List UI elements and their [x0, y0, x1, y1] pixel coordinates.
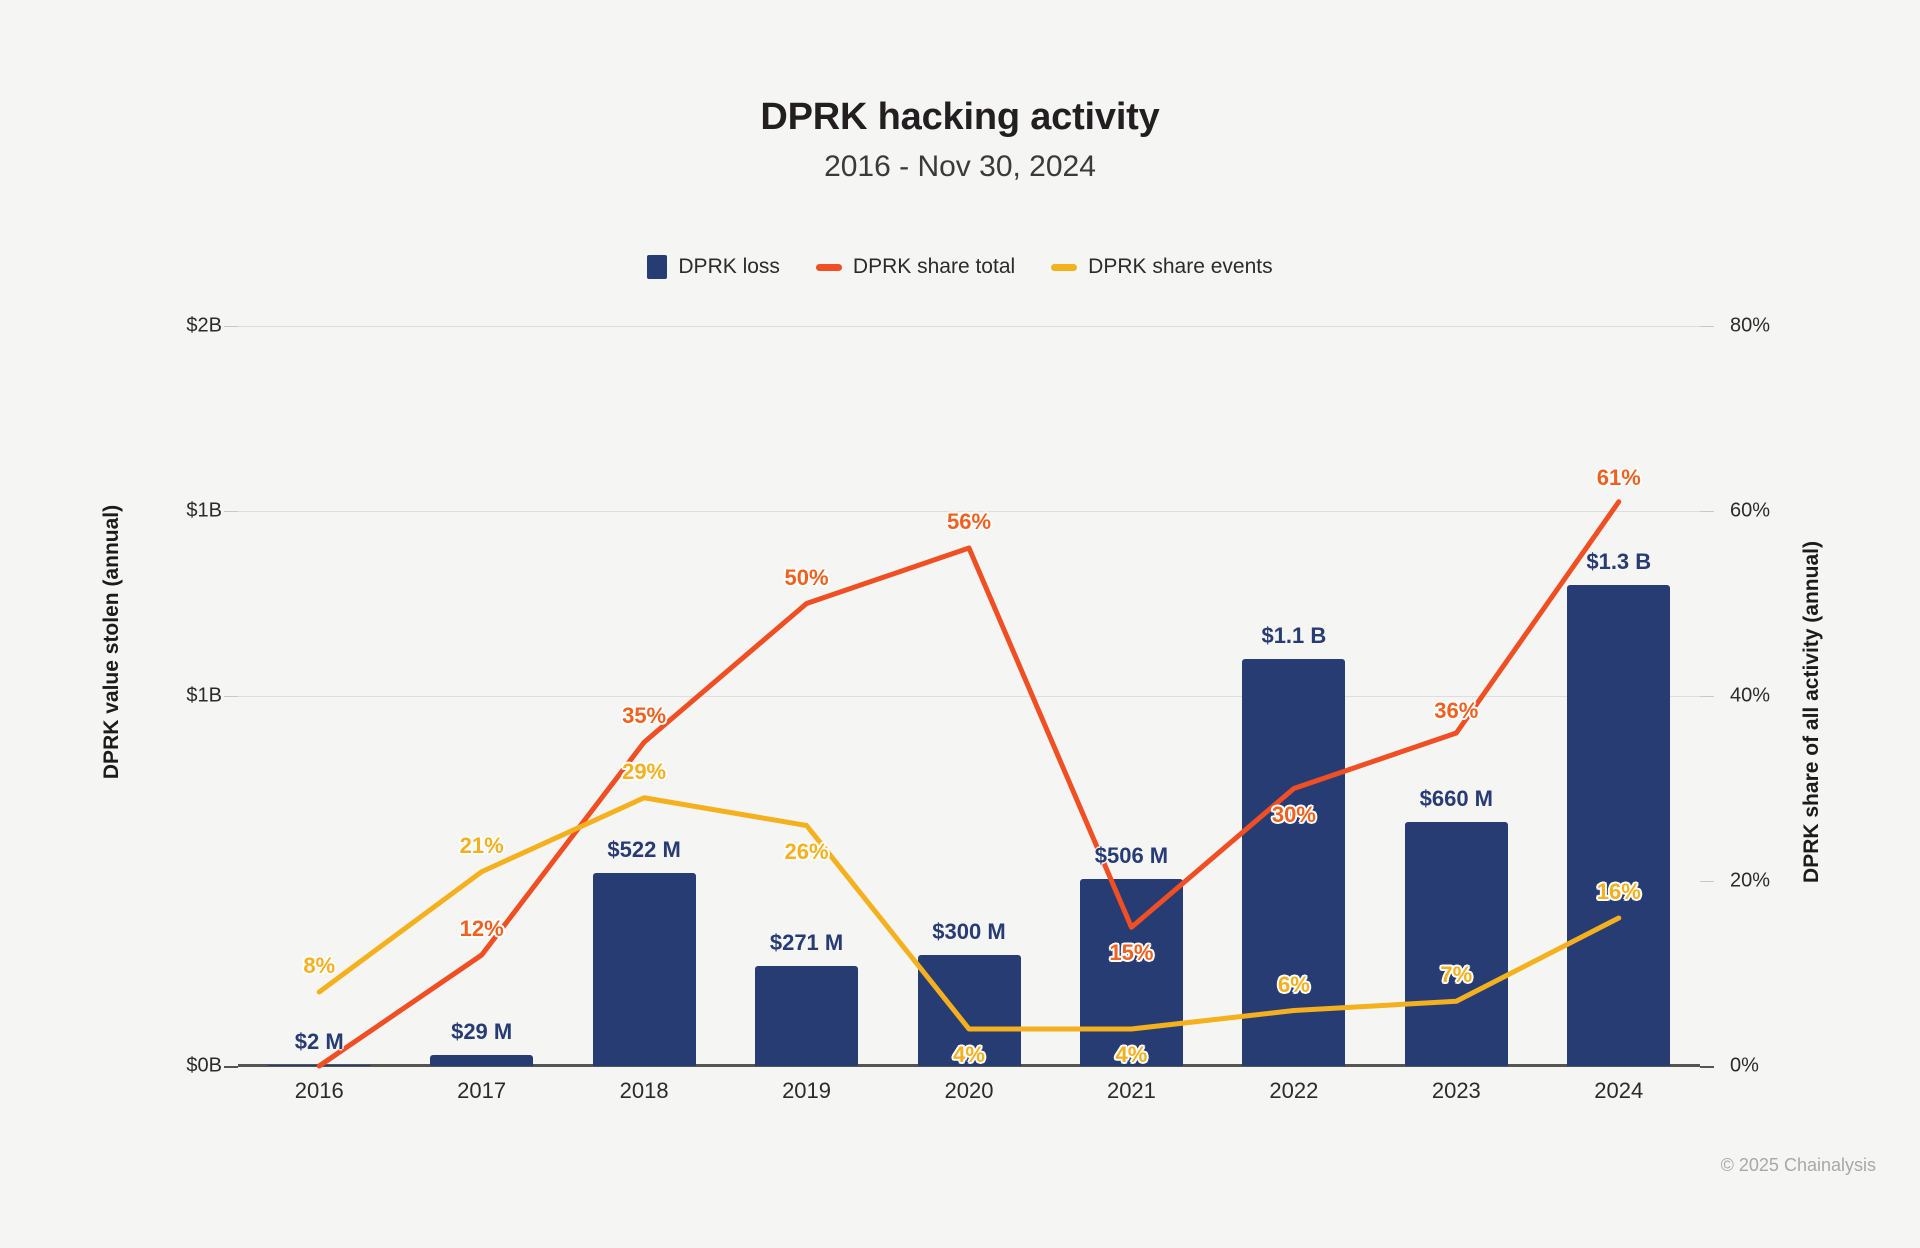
- left-axis-tickmark: [224, 326, 238, 327]
- point-label-dprk-share-events-2018: 29%: [622, 759, 666, 785]
- gridline: [238, 326, 1700, 327]
- left-axis-tickmark: [224, 696, 238, 697]
- legend-item-dprk-share-events[interactable]: DPRK share events: [1051, 255, 1272, 279]
- right-axis-tickmark: [1700, 696, 1714, 697]
- right-axis-tick-label: 80%: [1730, 315, 1850, 338]
- legend-line-swatch-icon: [816, 264, 842, 271]
- point-label-dprk-share-events-2021: 4%: [1116, 1042, 1148, 1068]
- left-axis-tick-label: $1B: [102, 500, 222, 523]
- bar-2022[interactable]: [1242, 659, 1345, 1066]
- bar-value-label-2019: $271 M: [770, 930, 843, 956]
- right-axis-tick-label: 0%: [1730, 1055, 1850, 1078]
- page-title: DPRK hacking activity: [0, 96, 1920, 139]
- point-label-dprk-share-events-2023: 7%: [1440, 962, 1472, 988]
- plot-area: $2B$1B$1B$0B80%60%40%20%0%: [238, 326, 1700, 1066]
- point-label-dprk-share-total-2022: 30%: [1272, 802, 1316, 828]
- legend-line-swatch-icon: [1051, 264, 1077, 271]
- bar-value-label-2022: $1.1 B: [1261, 623, 1326, 649]
- point-label-dprk-share-total-2018: 35%: [622, 703, 666, 729]
- legend-label: DPRK share total: [853, 255, 1015, 279]
- x-axis-tick-2022: 2022: [1269, 1078, 1318, 1104]
- bar-value-label-2017: $29 M: [451, 1019, 512, 1045]
- point-label-dprk-share-events-2024: 16%: [1597, 879, 1641, 905]
- left-axis-tickmark: [224, 511, 238, 512]
- bar-value-label-2018: $522 M: [607, 837, 680, 863]
- x-axis-tick-2023: 2023: [1432, 1078, 1481, 1104]
- bar-2021[interactable]: [1080, 879, 1183, 1066]
- point-label-dprk-share-total-2021: 15%: [1109, 940, 1153, 966]
- x-axis-tick-2018: 2018: [620, 1078, 669, 1104]
- right-axis-tick-label: 40%: [1730, 685, 1850, 708]
- point-label-dprk-share-events-2017: 21%: [460, 833, 504, 859]
- right-axis-tickmark: [1700, 881, 1714, 882]
- chart-page: DPRK hacking activity 2016 - Nov 30, 202…: [0, 0, 1920, 1248]
- point-label-dprk-share-total-2019: 50%: [785, 565, 829, 591]
- right-axis-tickmark: [1700, 511, 1714, 512]
- bar-2018[interactable]: [593, 873, 696, 1066]
- left-axis-tick-label: $1B: [102, 685, 222, 708]
- legend-label: DPRK share events: [1088, 255, 1272, 279]
- legend-item-dprk-share-total[interactable]: DPRK share total: [816, 255, 1015, 279]
- chart-legend: DPRK lossDPRK share totalDPRK share even…: [0, 255, 1920, 279]
- point-label-dprk-share-events-2019: 26%: [785, 839, 829, 865]
- point-label-dprk-share-events-2020: 4%: [953, 1042, 985, 1068]
- left-axis-title: DPRK value stolen (annual): [100, 505, 124, 779]
- left-axis-tick-label: $0B: [102, 1055, 222, 1078]
- bar-2023[interactable]: [1405, 822, 1508, 1066]
- point-label-dprk-share-total-2024: 61%: [1597, 465, 1641, 491]
- point-label-dprk-share-events-2022: 6%: [1278, 972, 1310, 998]
- legend-label: DPRK loss: [678, 255, 780, 279]
- right-axis-tickmark: [1700, 326, 1714, 327]
- right-axis-tickmark: [1700, 1066, 1714, 1068]
- x-axis-tick-2021: 2021: [1107, 1078, 1156, 1104]
- copyright-text: © 2025 Chainalysis: [1721, 1155, 1876, 1176]
- bar-value-label-2023: $660 M: [1420, 786, 1493, 812]
- x-axis-tick-2016: 2016: [295, 1078, 344, 1104]
- x-axis-tick-2019: 2019: [782, 1078, 831, 1104]
- bar-value-label-2020: $300 M: [932, 919, 1005, 945]
- gridline: [238, 696, 1700, 697]
- x-axis-tick-2017: 2017: [457, 1078, 506, 1104]
- bar-value-label-2021: $506 M: [1095, 843, 1168, 869]
- bar-2019[interactable]: [755, 966, 858, 1066]
- x-axis-tick-2020: 2020: [945, 1078, 994, 1104]
- point-label-dprk-share-total-2023: 36%: [1434, 698, 1478, 724]
- left-axis-tick-label: $2B: [102, 315, 222, 338]
- x-axis-tick-2024: 2024: [1594, 1078, 1643, 1104]
- left-axis-tickmark: [224, 1066, 238, 1068]
- bar-2017[interactable]: [430, 1055, 533, 1066]
- bar-value-label-2016: $2 M: [295, 1029, 344, 1055]
- point-label-dprk-share-total-2020: 56%: [947, 509, 991, 535]
- bar-2024[interactable]: [1567, 585, 1670, 1066]
- bar-value-label-2024: $1.3 B: [1586, 549, 1651, 575]
- right-axis-tick-label: 60%: [1730, 500, 1850, 523]
- right-axis-title: DPRK share of all activity (annual): [1800, 541, 1824, 883]
- right-axis-tick-label: 20%: [1730, 870, 1850, 893]
- page-subtitle: 2016 - Nov 30, 2024: [0, 150, 1920, 184]
- legend-item-dprk-loss[interactable]: DPRK loss: [647, 255, 780, 279]
- legend-square-swatch-icon: [647, 255, 667, 279]
- point-label-dprk-share-events-2016: 8%: [303, 953, 335, 979]
- point-label-dprk-share-total-2017: 12%: [460, 916, 504, 942]
- bar-2016[interactable]: [268, 1065, 371, 1066]
